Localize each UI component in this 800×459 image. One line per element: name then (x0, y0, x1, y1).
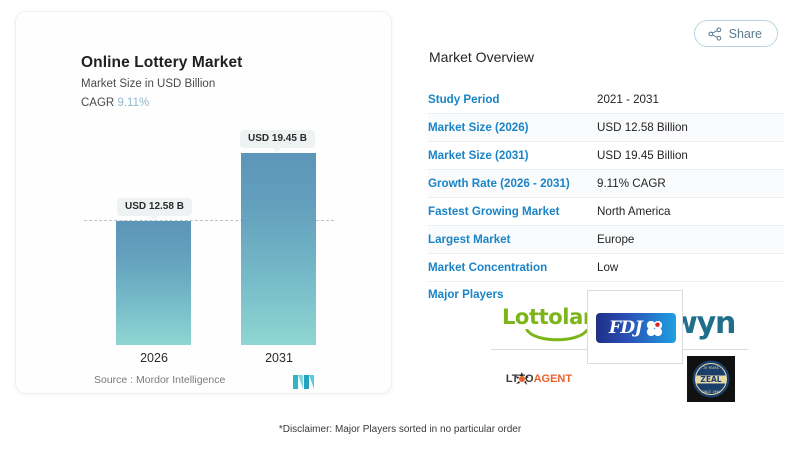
zeal-text: ZEAL (700, 375, 721, 384)
table-row[interactable]: Study Period 2021 - 2031 (428, 86, 784, 114)
row-key: Market Concentration (428, 261, 597, 274)
market-overview-title: Market Overview (429, 49, 534, 65)
zeal-badge-icon: ZEAL 25 YEARS SINCE 1999 (691, 359, 731, 399)
page-root: Online Lottery Market Market Size in USD… (0, 0, 800, 459)
chart-title: Online Lottery Market (81, 54, 242, 72)
zeal-top-text: 25 YEARS (703, 366, 718, 370)
row-value: USD 19.45 Billion (597, 149, 688, 162)
cagr-value: 9.11% (117, 97, 149, 109)
bar-label-2026: USD 12.58 B (117, 198, 192, 216)
row-value: North America (597, 205, 670, 218)
table-row[interactable]: Fastest Growing Market North America (428, 198, 784, 226)
row-key: Largest Market (428, 233, 597, 246)
row-key: Market Size (2026) (428, 121, 597, 134)
bar-2026[interactable] (116, 221, 191, 345)
table-row[interactable]: Growth Rate (2026 - 2031) 9.11% CAGR (428, 170, 784, 198)
logo-fdj[interactable]: FDJ (587, 290, 683, 364)
row-key: Study Period (428, 93, 597, 106)
row-key: Growth Rate (2026 - 2031) (428, 177, 597, 190)
row-value: 2021 - 2031 (597, 93, 659, 106)
logo-lottoagent[interactable]: LTTOAGENT (491, 356, 587, 402)
table-row[interactable]: Market Size (2031) USD 19.45 Billion (428, 142, 784, 170)
fdj-clover-icon (646, 320, 663, 337)
zeal-bottom-text: SINCE 1999 (702, 390, 721, 394)
mordor-intelligence-logo (293, 373, 317, 389)
logo-zeal[interactable]: ZEAL 25 YEARS SINCE 1999 (687, 356, 735, 402)
lottoagent-part-3: AGENT (534, 373, 573, 385)
row-value: USD 12.58 Billion (597, 121, 688, 134)
table-row[interactable]: Market Concentration Low (428, 254, 784, 282)
logo-fdj-text: FDJ (609, 320, 642, 337)
share-button-label: Share (729, 27, 762, 41)
disclaimer-text: *Disclaimer: Major Players sorted in no … (4, 424, 796, 435)
chart-subtitle: Market Size in USD Billion (81, 78, 215, 90)
lottoagent-star-icon (515, 372, 529, 386)
row-value: Europe (597, 233, 634, 246)
bar-label-2031: USD 19.45 B (240, 130, 315, 148)
row-key: Fastest Growing Market (428, 205, 597, 218)
table-row[interactable]: Market Size (2026) USD 12.58 Billion (428, 114, 784, 142)
x-axis-label-2026: 2026 (109, 351, 199, 365)
bar-2031[interactable] (241, 153, 316, 345)
x-axis-label-2031: 2031 (234, 351, 324, 365)
major-players-logos: Lottoland allwyn LTTOAGENT (491, 294, 748, 409)
row-value: 9.11% CAGR (597, 177, 666, 190)
cagr-label: CAGR (81, 97, 114, 109)
fdj-tile: FDJ (596, 313, 676, 343)
row-key: Market Size (2031) (428, 149, 597, 162)
outer-card: Online Lottery Market Market Size in USD… (4, 2, 796, 457)
share-button[interactable]: Share (694, 20, 778, 47)
row-value: Low (597, 261, 618, 274)
share-icon (708, 27, 722, 41)
lottoland-smile-icon (525, 329, 589, 342)
chart-card: Online Lottery Market Market Size in USD… (16, 12, 391, 393)
chart-cagr: CAGR 9.11% (81, 97, 149, 109)
chart-plot-area: USD 12.58 B USD 19.45 B 2026 2031 (16, 122, 391, 352)
chart-source: Source : Mordor Intelligence (94, 374, 225, 386)
table-row[interactable]: Largest Market Europe (428, 226, 784, 254)
market-overview-table: Study Period 2021 - 2031 Market Size (20… (428, 86, 784, 306)
